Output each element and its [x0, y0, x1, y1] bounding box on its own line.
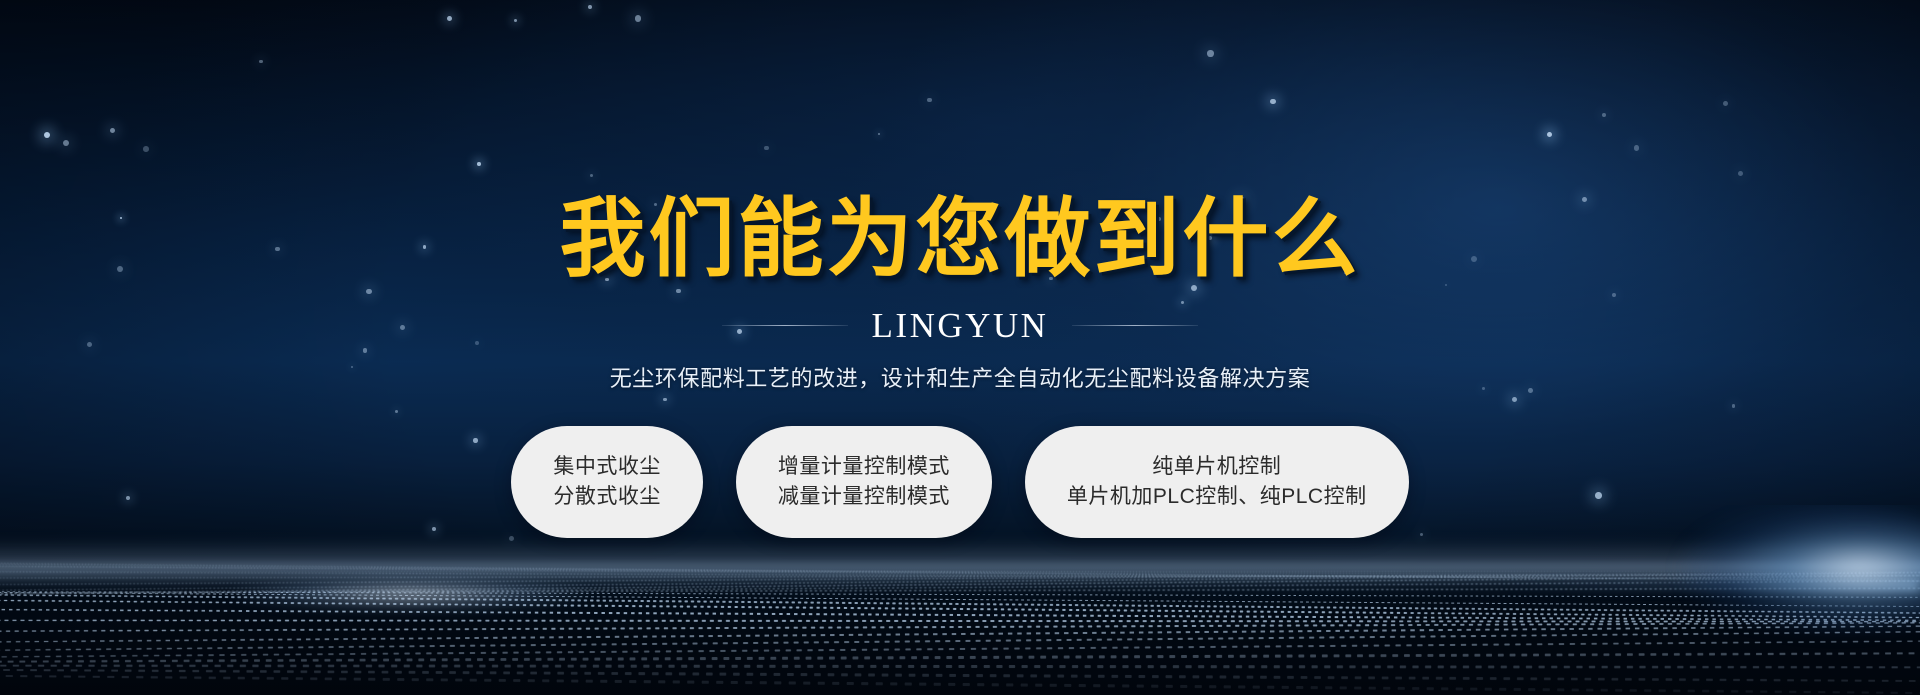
feature-card-line: 分散式收尘 — [553, 486, 661, 507]
mesh-dot-row — [0, 587, 1920, 594]
mesh-dot-row — [0, 571, 1920, 572]
mesh-bottom-fade — [0, 625, 1920, 695]
mesh-dot-row — [0, 667, 1920, 684]
horizon-highlight-band — [0, 563, 1920, 581]
feature-card-list: 集中式收尘分散式收尘增量计量控制模式减量计量控制模式纯单片机控制单片机加PLC控… — [0, 426, 1920, 538]
feature-card-line: 单片机加PLC控制、纯PLC控制 — [1067, 486, 1367, 507]
mesh-dot-row — [0, 621, 1920, 633]
feature-card-line: 集中式收尘 — [553, 456, 661, 477]
mesh-dot-row — [0, 571, 1920, 587]
mesh-dot-row — [0, 651, 1920, 664]
subtitle-row: LINGYUN — [0, 308, 1920, 343]
mesh-dot-row — [0, 598, 1920, 621]
rule-right-decoration — [1072, 325, 1198, 326]
feature-card-line: 减量计量控制模式 — [778, 486, 950, 507]
mesh-dot-row — [0, 572, 1920, 595]
hero-banner: 我们能为您做到什么 LINGYUN 无尘环保配料工艺的改进，设计和生产全自动化无… — [0, 0, 1920, 695]
mesh-dot-row — [0, 629, 1920, 654]
mesh-dot-row — [0, 607, 1920, 622]
mesh-dot-row — [0, 561, 1920, 585]
page-title: 我们能为您做到什么 — [0, 196, 1920, 282]
mesh-dot-row — [0, 672, 1920, 695]
mesh-dot-row — [0, 638, 1920, 660]
feature-card-dust-collection[interactable]: 集中式收尘分散式收尘 — [511, 426, 703, 538]
mesh-dot-row — [0, 619, 1920, 623]
hero-content: 我们能为您做到什么 LINGYUN 无尘环保配料工艺的改进，设计和生产全自动化无… — [0, 0, 1920, 538]
mesh-dot-row — [0, 570, 1920, 593]
mesh-dot-row — [0, 574, 1920, 579]
feature-card-line: 增量计量控制模式 — [778, 456, 950, 477]
mesh-dot-row — [0, 564, 1920, 583]
mesh-dot-row — [0, 590, 1920, 609]
feature-card-plc-control[interactable]: 纯单片机控制单片机加PLC控制、纯PLC控制 — [1025, 426, 1409, 538]
horizon-haze-band — [0, 541, 1920, 587]
mesh-dot-row — [0, 592, 1920, 616]
feature-card-metering-control[interactable]: 增量计量控制模式减量计量控制模式 — [736, 426, 992, 538]
rule-left-decoration — [722, 325, 848, 326]
brand-subtitle: LINGYUN — [872, 308, 1049, 343]
mesh-dot-row — [0, 561, 1920, 582]
mesh-dot-row — [0, 591, 1920, 599]
mesh-dot-row — [0, 570, 1920, 580]
mesh-dot-row — [0, 664, 1920, 669]
feature-card-line: 纯单片机控制 — [1152, 456, 1281, 477]
mesh-dot-row — [0, 578, 1920, 595]
mesh-crest-glow — [230, 577, 590, 611]
flare-streak — [1500, 581, 1920, 591]
mesh-dot-row — [0, 623, 1920, 645]
mesh-dot-row — [0, 565, 1920, 578]
page-description: 无尘环保配料工艺的改进，设计和生产全自动化无尘配料设备解决方案 — [0, 365, 1920, 394]
